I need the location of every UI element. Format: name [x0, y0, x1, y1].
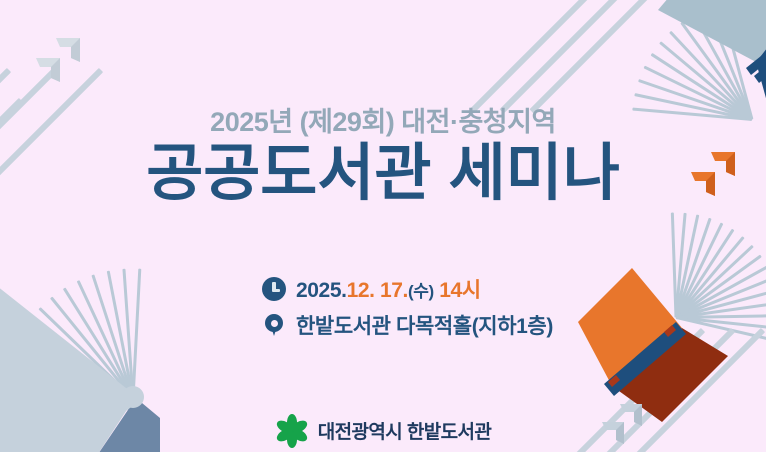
poster-title: 공공도서관 세미나 — [0, 141, 766, 206]
date-year: 2025. — [296, 279, 347, 302]
location-pin-icon — [262, 313, 286, 337]
poster-subtitle: 2025년 (제29회) 대전·충청지역 — [0, 100, 766, 139]
event-details: 2025.12. 17.(수) 14시 한밭도서관 다목적홀(지하1층) — [262, 274, 682, 346]
clock-icon — [262, 277, 286, 301]
event-place-text: 한밭도서관 다목적홀(지하1층) — [296, 310, 553, 340]
event-date-row: 2025.12. 17.(수) 14시 — [262, 274, 682, 304]
date-time: 14시 — [439, 279, 480, 302]
date-day: 12. 17. — [347, 279, 408, 302]
event-place-row: 한밭도서관 다목적홀(지하1층) — [262, 310, 682, 340]
footer-branding: 대전광역시 한밭도서관 — [0, 414, 766, 446]
footer-organization-name: 대전광역시 한밭도서관 — [318, 417, 491, 444]
event-date-text: 2025.12. 17.(수) 14시 — [296, 274, 481, 304]
daejeon-pinwheel-logo-icon — [275, 414, 309, 446]
date-weekday: (수) — [408, 282, 434, 301]
event-poster: 2025년 (제29회) 대전·충청지역 공공도서관 세미나 2025.12. … — [0, 0, 766, 452]
